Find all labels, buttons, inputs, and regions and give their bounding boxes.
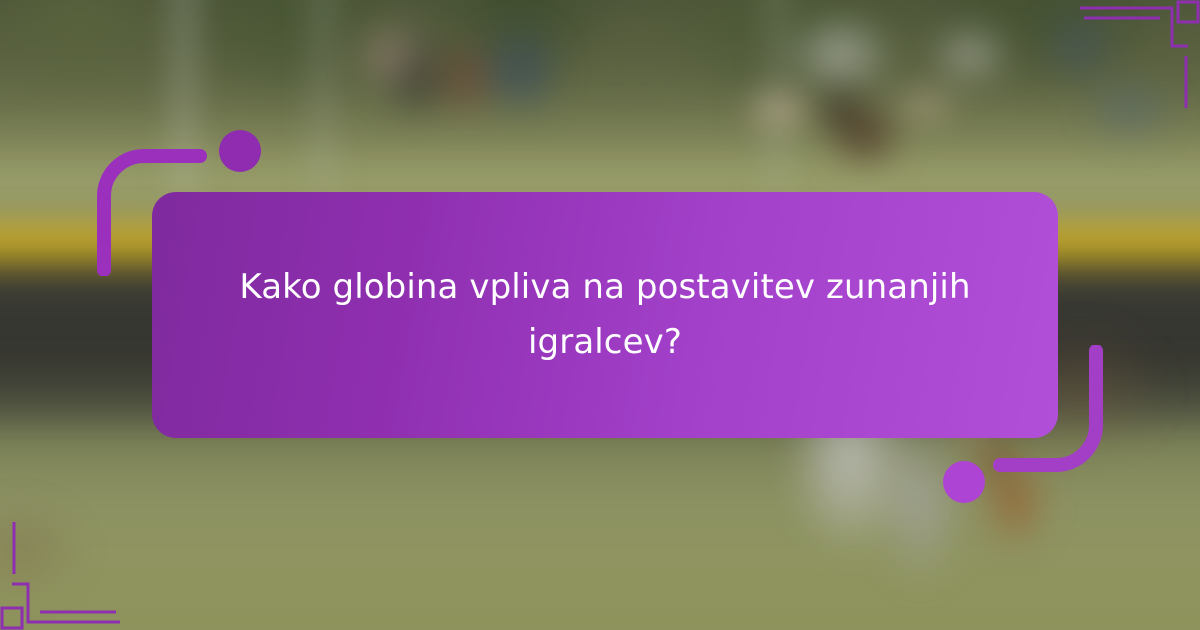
title-card: Kako globina vpliva na postavitev zunanj… [152,192,1058,438]
social-card-canvas: Kako globina vpliva na postavitev zunanj… [0,0,1200,630]
accent-dot-right [943,461,985,503]
accent-dot-left [219,130,261,172]
page-title: Kako globina vpliva na postavitev zunanj… [235,260,975,370]
